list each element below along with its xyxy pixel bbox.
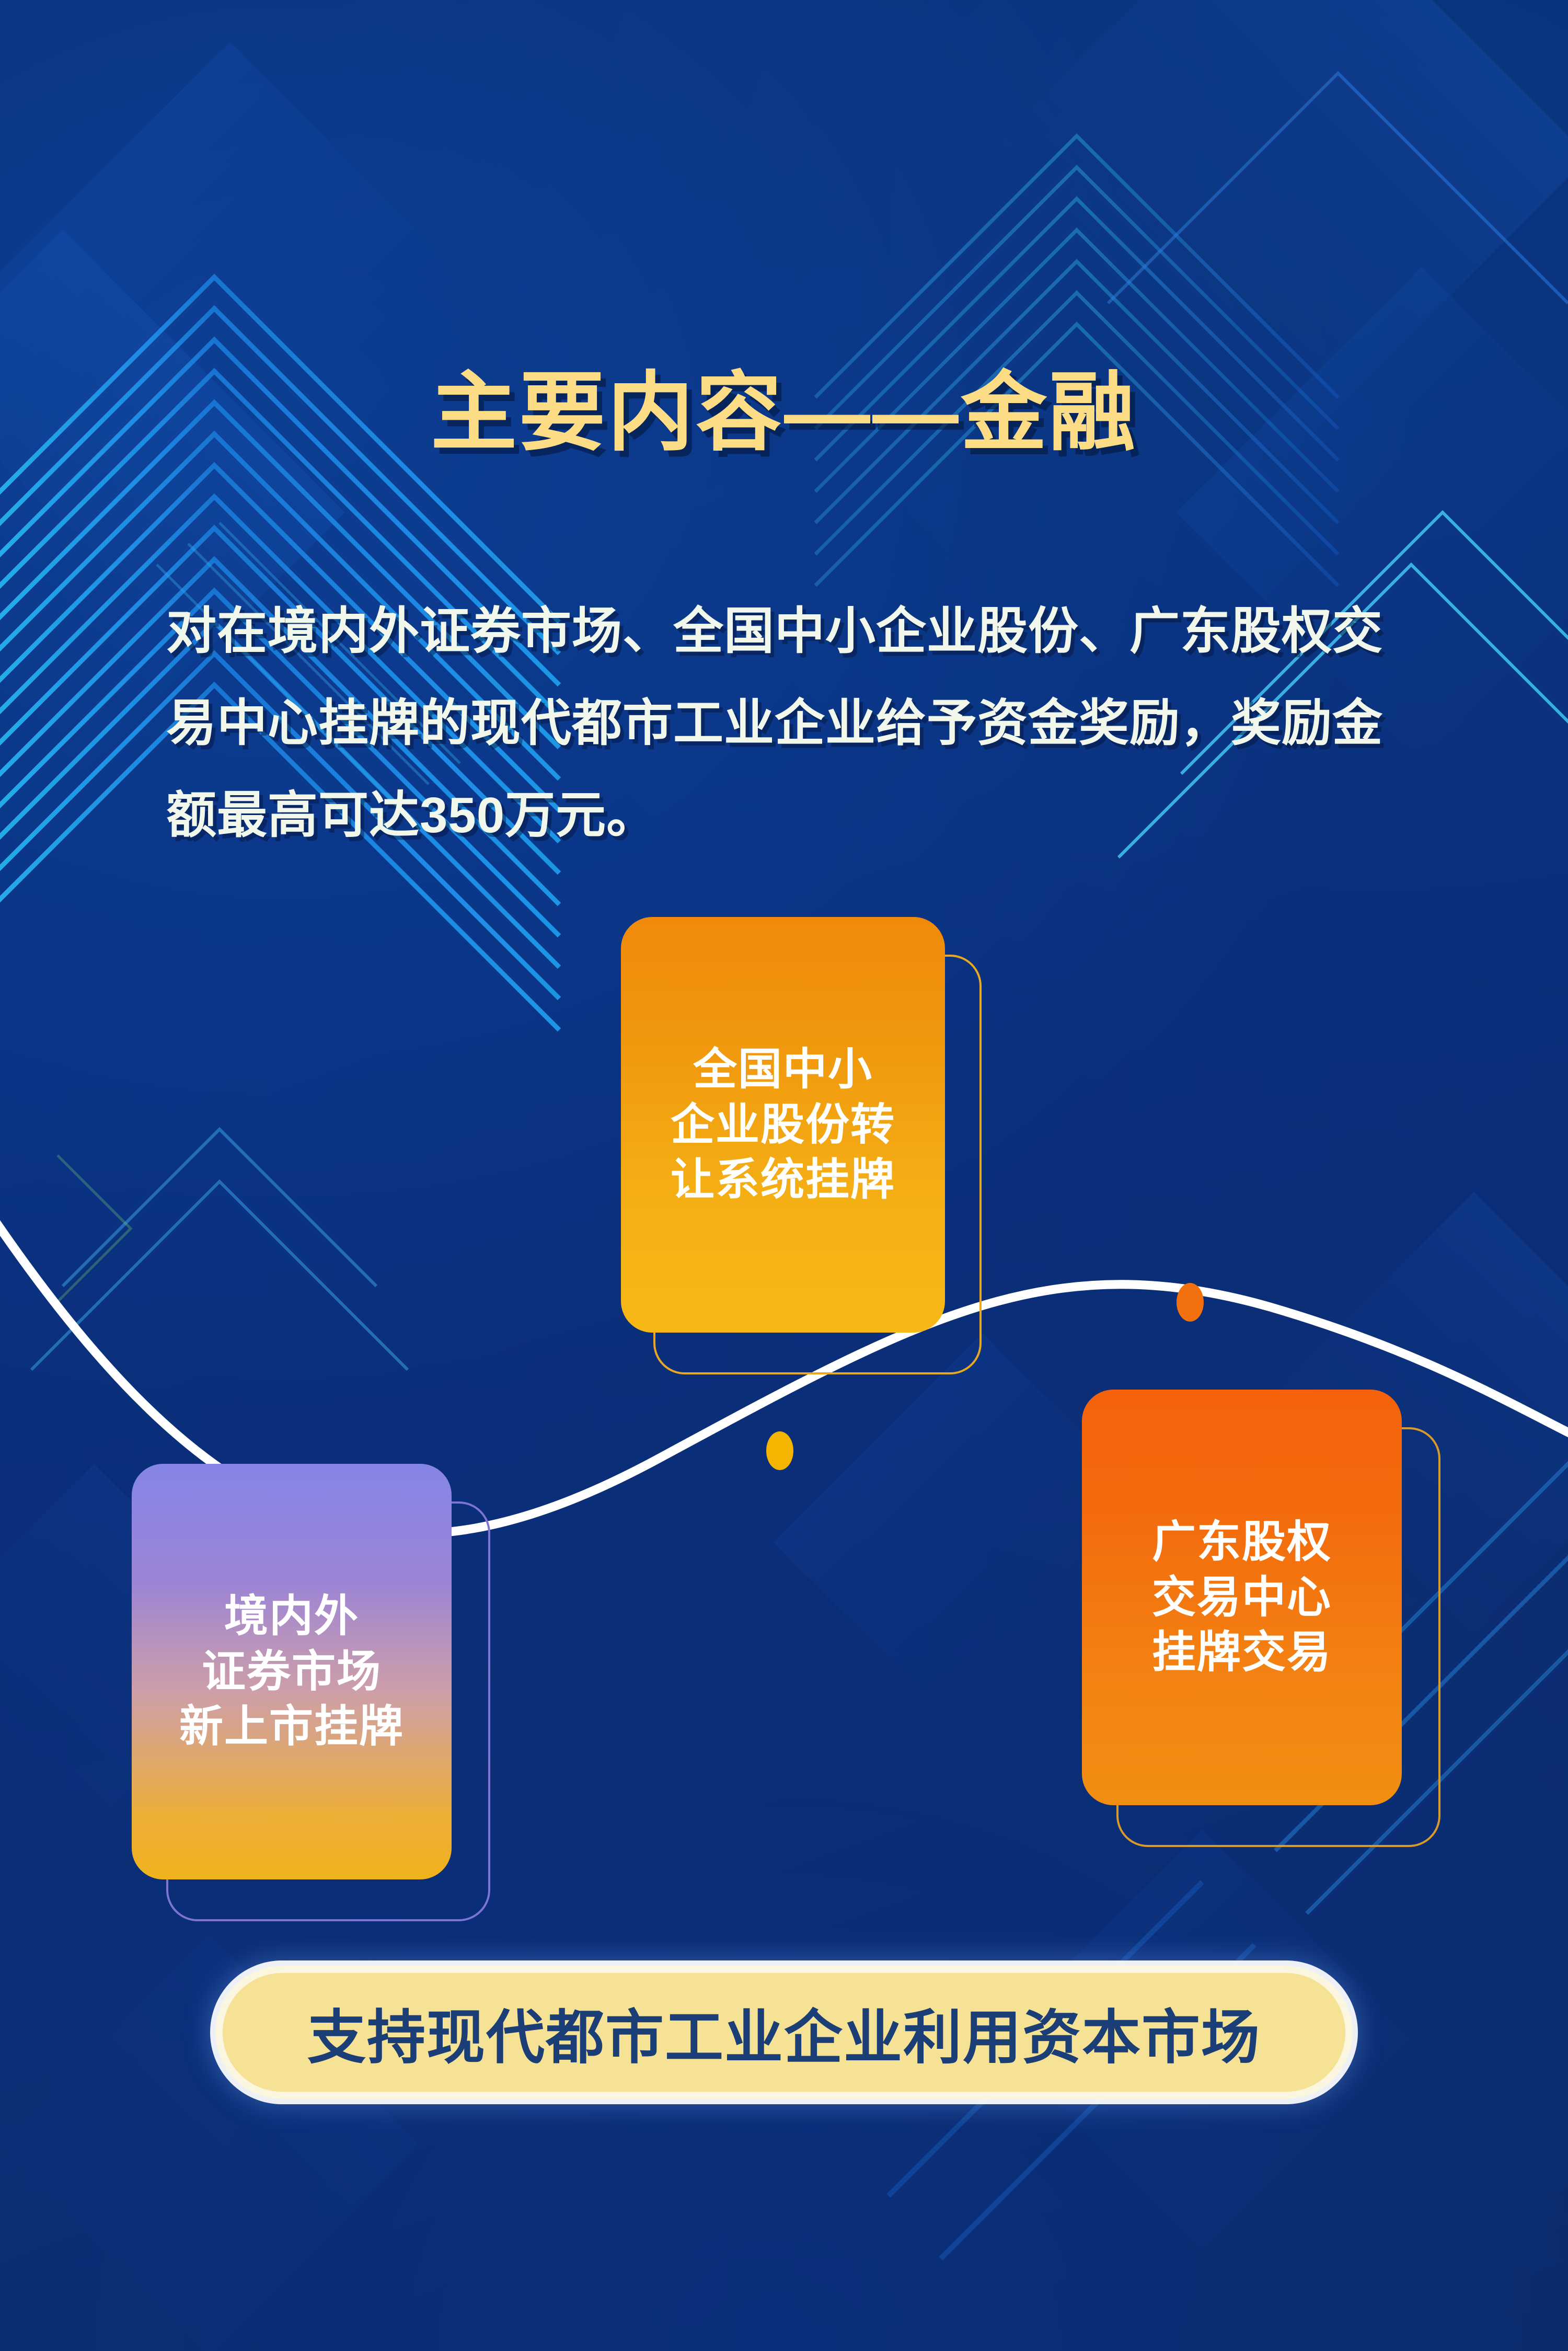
card-nationwide-line-3: 让系统挂牌 xyxy=(671,1152,895,1208)
card-nationwide-line-2: 企业股份转 xyxy=(671,1097,895,1153)
card-guangdong-text: 广东股权 交易中心 挂牌交易 xyxy=(1152,1515,1332,1680)
yellow-marker xyxy=(766,1431,793,1470)
card-nationwide-text: 全国中小 企业股份转 让系统挂牌 xyxy=(671,1042,895,1208)
card-guangdong-line-3: 挂牌交易 xyxy=(1152,1625,1332,1680)
card-domestic-text: 境内外 证券市场 新上市挂牌 xyxy=(179,1589,404,1754)
card-nationwide-line-1: 全国中小 xyxy=(671,1042,895,1097)
page-title: 主要内容——金融 xyxy=(0,342,1568,467)
card-guangdong[interactable]: 广东股权 交易中心 挂牌交易 xyxy=(1082,1390,1402,1805)
orange-marker xyxy=(1177,1283,1204,1322)
card-guangdong-line-2: 交易中心 xyxy=(1152,1570,1332,1625)
card-guangdong-line-1: 广东股权 xyxy=(1152,1515,1332,1570)
card-domestic-line-3: 新上市挂牌 xyxy=(179,1699,404,1754)
card-domestic-line-2: 证券市场 xyxy=(179,1644,404,1700)
poster-root: 主要内容——金融 对在境内外证券市场、全国中小企业股份、广东股权交易中心挂牌的现… xyxy=(0,0,1568,2351)
body-paragraph: 对在境内外证券市场、全国中小企业股份、广东股权交易中心挂牌的现代都市工业企业给予… xyxy=(166,586,1421,862)
card-domestic-line-1: 境内外 xyxy=(179,1589,404,1644)
card-nationwide[interactable]: 全国中小 企业股份转 让系统挂牌 xyxy=(621,917,945,1333)
bottom-banner[interactable]: 支持现代都市工业企业利用资本市场 xyxy=(215,1966,1353,2099)
card-domestic[interactable]: 境内外 证券市场 新上市挂牌 xyxy=(132,1464,452,1879)
bottom-banner-label: 支持现代都市工业企业利用资本市场 xyxy=(223,1973,1345,2092)
